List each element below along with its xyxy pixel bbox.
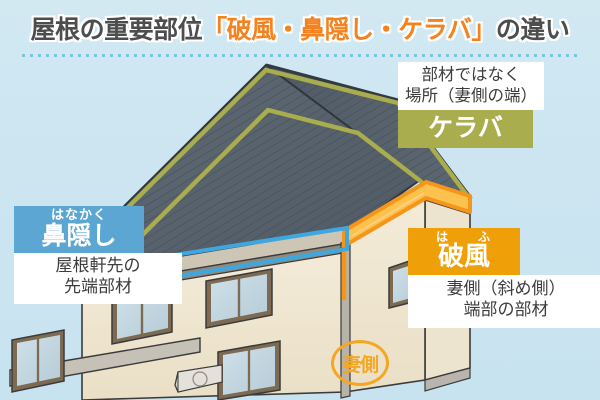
callout-hanakakushi: はなかく 鼻隠し 屋根軒先の 先端部材 (14, 206, 182, 304)
title-accent: 「破風・鼻隠し・ケラバ」 (202, 15, 496, 44)
hanakakushi-term-badge: はなかく 鼻隠し (14, 206, 144, 253)
callout-keraba: 部材ではなく 場所（妻側の端） ケラバ (398, 62, 544, 148)
title-suffix: の違い (496, 15, 570, 44)
keraba-description-line2: 場所（妻側の端） (405, 86, 537, 107)
keraba-term: ケラバ (408, 115, 523, 140)
house-roof-illustration (0, 0, 600, 400)
window-lower-right (218, 341, 280, 400)
tsumagawa-label: 妻側 (342, 350, 378, 377)
page-title-text: 屋根の重要部位「破風・鼻隠し・ケラバ」の違い (31, 10, 570, 46)
infographic-canvas: 屋根の重要部位「破風・鼻隠し・ケラバ」の違い 部材ではなく 場所（妻側の端） ケ… (0, 0, 600, 400)
hanakakushi-description: 屋根軒先の 先端部材 (14, 253, 182, 304)
hafu-term: 破風 (416, 244, 512, 270)
hanakakushi-term: 鼻隠し (20, 223, 138, 248)
tsumagawa-circle-marker: 妻側 (331, 340, 389, 386)
keraba-term-badge: ケラバ (398, 110, 533, 148)
hafu-description-line2: 端部の部材 (412, 300, 600, 321)
hafu-term-badge: は ふ 破風 (408, 228, 520, 275)
keraba-description-line1: 部材ではなく (405, 65, 537, 86)
hafu-description-line1: 妻側（斜め側） (412, 279, 600, 300)
hanakakushi-description-line1: 屋根軒先の (18, 256, 178, 277)
title-divider-dotted (22, 54, 578, 57)
hanakakushi-description-line2: 先端部材 (18, 277, 178, 298)
hafu-description: 妻側（斜め側） 端部の部材 (408, 275, 600, 328)
callout-hafu: は ふ 破風 妻側（斜め側） 端部の部材 (408, 228, 600, 328)
window-lower-left (12, 330, 64, 392)
keraba-description: 部材ではなく 場所（妻側の端） (398, 62, 544, 110)
page-title: 屋根の重要部位「破風・鼻隠し・ケラバ」の違い (0, 0, 600, 56)
title-prefix: 屋根の重要部位 (31, 15, 203, 44)
